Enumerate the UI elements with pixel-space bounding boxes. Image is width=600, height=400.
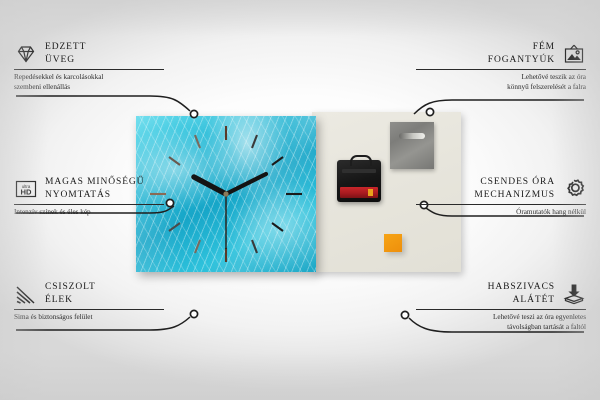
divider (416, 69, 586, 70)
feature-polished-edges[interactable]: CSISZOLT ÉLEK Sima és biztonságos felüle… (14, 281, 164, 323)
feature-metal-handles[interactable]: FÉM FOGANTYÚK Lehetővé teszik az óra kön… (416, 41, 586, 92)
ultra-hd-icon: ultra HD (14, 177, 38, 201)
foam-pad (384, 234, 402, 252)
foam-pad-icon (562, 282, 586, 306)
picture-frame-icon (562, 42, 586, 66)
clock-center (223, 191, 228, 196)
gear-icon (562, 177, 586, 201)
feature-header: ultra HD MAGAS MINŐSÉGŰ NYOMTATÁS (14, 176, 164, 201)
mechanism-slot (342, 169, 376, 173)
hour-hand (194, 177, 226, 194)
feature-header: CSENDES ÓRA MECHANIZMUS (416, 176, 586, 201)
divider (416, 204, 586, 205)
mechanism-hook (350, 155, 372, 166)
feature-title: HABSZIVACS ALÁTÉT (488, 281, 555, 306)
infographic-stage: EDZETT ÜVEG Repedésekkel és karcolásokka… (0, 0, 600, 400)
divider (14, 309, 164, 310)
feature-title: CSENDES ÓRA MECHANIZMUS (474, 176, 555, 201)
feature-title: CSISZOLT ÉLEK (45, 281, 96, 306)
feature-header: CSISZOLT ÉLEK (14, 281, 164, 306)
minute-hand (226, 174, 266, 194)
feature-title: EDZETT ÜVEG (45, 41, 86, 66)
divider (14, 69, 164, 70)
diagonal-lines-icon (14, 282, 38, 306)
feature-high-quality-print[interactable]: ultra HD MAGAS MINŐSÉGŰ NYOMTATÁS Intenz… (14, 176, 164, 218)
divider (14, 204, 164, 205)
battery-label (340, 187, 378, 198)
svg-text:HD: HD (21, 187, 32, 196)
feature-tempered-glass[interactable]: EDZETT ÜVEG Repedésekkel és karcolásokka… (14, 41, 164, 92)
feature-title: FÉM FOGANTYÚK (488, 41, 555, 66)
clock-mechanism (337, 160, 381, 202)
feature-header: FÉM FOGANTYÚK (416, 41, 586, 66)
endpoint-dot-polished-edges (190, 310, 197, 317)
product-image (136, 112, 461, 275)
metal-hanger (390, 122, 434, 169)
endpoint-dot-foam-pad (401, 311, 408, 318)
feature-foam-pad[interactable]: HABSZIVACS ALÁTÉT Lehetővé teszi az óra … (416, 281, 586, 332)
feature-header: HABSZIVACS ALÁTÉT (416, 281, 586, 306)
feature-header: EDZETT ÜVEG (14, 41, 164, 66)
feature-silent-mechanism[interactable]: CSENDES ÓRA MECHANIZMUS Óramutatók hang … (416, 176, 586, 218)
feature-title: MAGAS MINŐSÉGŰ NYOMTATÁS (45, 176, 144, 201)
divider (416, 309, 586, 310)
diamond-icon (14, 42, 38, 66)
